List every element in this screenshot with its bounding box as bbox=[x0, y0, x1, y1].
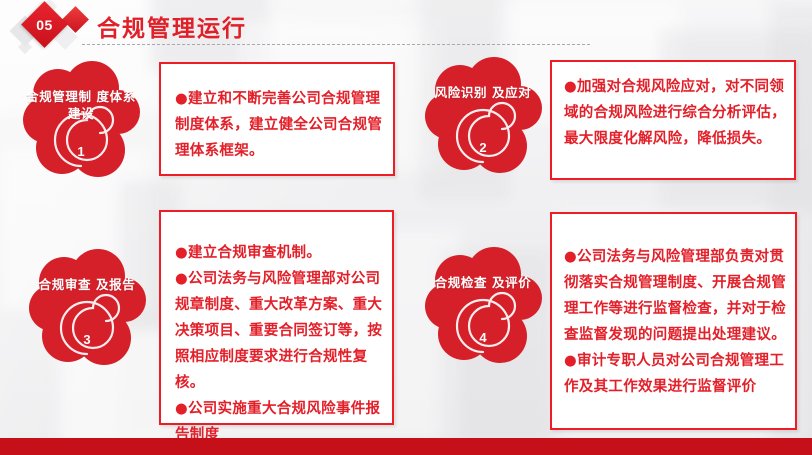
item-body-4: ●公司法务与风险管理部负责对贯彻落实合规管理制度、开展合规管理工作等进行监督检查… bbox=[564, 244, 789, 400]
section-number: 05 bbox=[28, 8, 61, 41]
item-badge-2[interactable]: 风险识别 及应对 2 bbox=[424, 58, 542, 176]
item-label-3: 合规审查 及报告 bbox=[28, 276, 146, 293]
cloud-blob-icon bbox=[28, 250, 146, 368]
item-badge-3[interactable]: 合规审查 及报告 3 bbox=[28, 250, 146, 368]
footer-bar bbox=[0, 438, 812, 455]
cloud-blob-icon bbox=[424, 58, 542, 176]
slide-header: 05 合规管理运行 bbox=[0, 0, 812, 52]
item-badge-1[interactable]: 合规管理制 度体系建设 1 bbox=[22, 62, 140, 180]
item-badge-4[interactable]: 合规检查 及评价 4 bbox=[424, 248, 542, 366]
item-number-1: 1 bbox=[22, 144, 140, 159]
item-number-2: 2 bbox=[424, 140, 542, 155]
item-label-4: 合规检查 及评价 bbox=[424, 274, 542, 291]
item-number-4: 4 bbox=[424, 330, 542, 345]
item-card-3[interactable]: ●建立合规审查机制。 ●公司法务与风险管理部对公司规章制度、重大改革方案、重大决… bbox=[159, 210, 394, 425]
item-body-2: ●加强对合规风险应对，对不同领域的合规风险进行综合分析评估，最大限度化解风险，降… bbox=[564, 74, 788, 152]
slide-canvas: 05 合规管理运行 合规管理制 度体系建设 1 ●建立和不断完善公司合规管理制度… bbox=[0, 0, 812, 455]
item-label-1: 合规管理制 度体系建设 bbox=[22, 88, 140, 122]
item-card-1[interactable]: ●建立和不断完善公司合规管理制度体系，建立健全公司合规管理体系框架。 bbox=[159, 62, 395, 176]
page-title: 合规管理运行 bbox=[97, 9, 247, 43]
title-dashed-divider bbox=[82, 44, 590, 45]
item-label-2: 风险识别 及应对 bbox=[424, 84, 542, 101]
item-body-1: ●建立和不断完善公司合规管理制度体系，建立健全公司合规管理体系框架。 bbox=[175, 86, 383, 164]
item-body-3: ●建立合规审查机制。 ●公司法务与风险管理部对公司规章制度、重大改革方案、重大决… bbox=[175, 240, 385, 448]
item-card-4[interactable]: ●公司法务与风险管理部负责对贯彻落实合规管理制度、开展合规管理工作等进行监督检查… bbox=[550, 212, 797, 430]
item-card-2[interactable]: ●加强对合规风险应对，对不同领域的合规风险进行综合分析评估，最大限度化解风险，降… bbox=[550, 60, 796, 180]
cloud-blob-icon bbox=[424, 248, 542, 366]
item-number-3: 3 bbox=[28, 332, 146, 347]
